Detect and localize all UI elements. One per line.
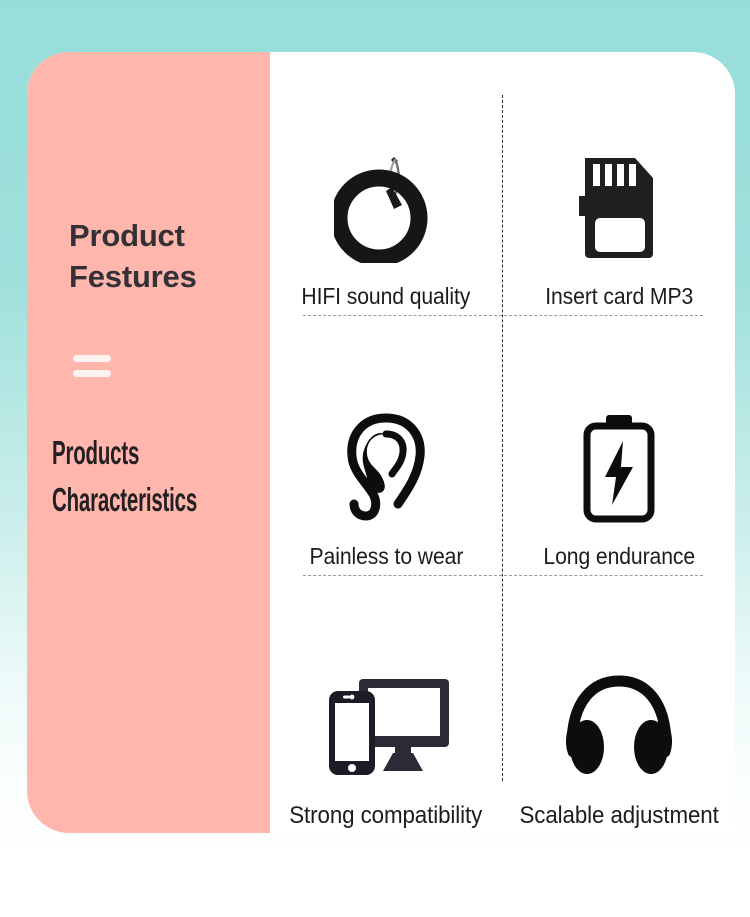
feature-label: HIFI sound quality [302, 283, 471, 344]
feature-grid: HIFI sound quality Insert card MP3 [270, 52, 735, 833]
phone-monitor-icon [321, 652, 451, 802]
sidebar-panel: Product Festures Products Characteristic… [27, 52, 270, 833]
feature-label: Painless to wear [309, 543, 463, 604]
feature-item-insert-card-mp3: Insert card MP3 [503, 84, 735, 344]
battery-charge-icon [579, 393, 659, 543]
sd-card-icon [571, 133, 667, 283]
headphones-icon [559, 652, 679, 802]
divider-dash-1 [73, 355, 111, 362]
page-subtitle-line1: Products [52, 434, 139, 471]
feature-card: Product Festures Products Characteristic… [27, 52, 735, 833]
feature-label: Long endurance [543, 543, 695, 604]
feature-label: Strong compatibility [290, 802, 483, 833]
page-subtitle: Products Characteristics [52, 430, 195, 524]
feature-label: Scalable adjustment [519, 802, 718, 833]
feature-item-strong-compatibility: Strong compatibility [270, 604, 502, 833]
page-title-line2: Festures [69, 259, 197, 294]
feature-label: Insert card MP3 [545, 283, 693, 344]
divider-dash-2 [73, 370, 111, 377]
coiled-cable-icon [334, 133, 438, 283]
ear-icon [340, 393, 432, 543]
feature-item-long-endurance: Long endurance [503, 344, 735, 604]
title-divider [73, 355, 111, 385]
page-title: Product Festures [69, 215, 269, 297]
feature-item-hifi-sound-quality: HIFI sound quality [270, 84, 502, 344]
feature-item-scalable-adjustment: Scalable adjustment [503, 604, 735, 833]
page-title-line1: Product [69, 218, 185, 253]
feature-item-painless-to-wear: Painless to wear [270, 344, 502, 604]
infographic-canvas: Product Festures Products Characteristic… [0, 0, 750, 917]
page-subtitle-line2: Characteristics [52, 477, 195, 524]
